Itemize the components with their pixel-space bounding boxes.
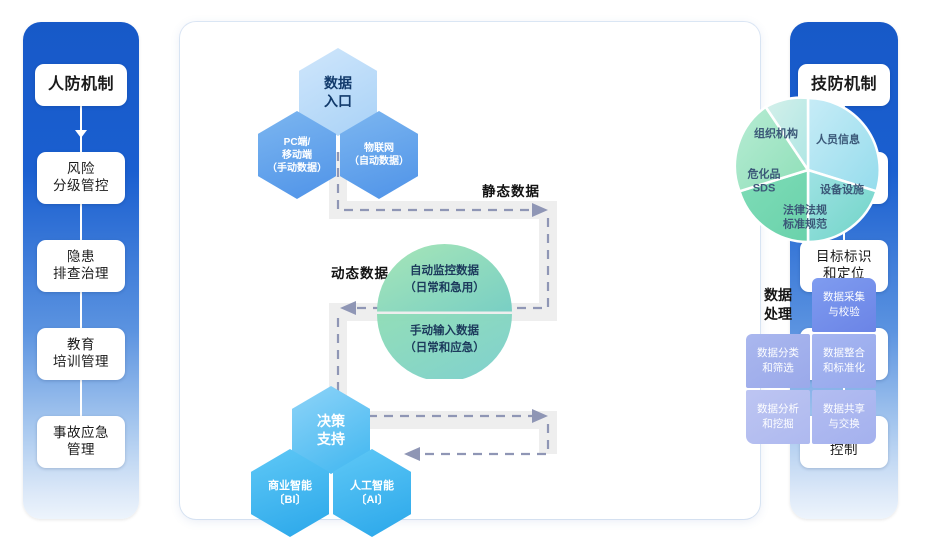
dynamic-data-auto-label: 自动监控数据（日常和急用） [404,263,485,296]
flow-arrow-left-2 [404,447,420,461]
center-card: 静态数据 动态数据 数据入口 PC端/移动端（手动数据） 物联网（自动数据） 决… [180,22,760,519]
hex-data-entry-label: 数据入口 [321,74,355,110]
dp-cell-analysis[interactable]: 数据分析和挖掘 [746,390,810,444]
flow-label-static: 静态数据 [482,180,540,200]
hex-decision-support-label: 决策支持 [314,412,348,448]
dynamic-data-circle: 自动监控数据（日常和急用） 手动输入数据（日常和应急） [377,244,512,379]
left-panel-title: 人防机制 [35,64,127,106]
hex-iot-label: 物联网（自动数据） [346,142,412,168]
data-processing-label: 数据处理 [746,278,810,332]
hex-pc-mobile-label: PC端/移动端（手动数据） [264,136,330,175]
left-panel-item-3[interactable]: 教育培训管理 [37,328,125,380]
dp-cell-integration[interactable]: 数据整合和标准化 [812,334,876,388]
pie-slice-label-5: 组织机构 [754,127,798,141]
dp-cell-sharing[interactable]: 数据共享与交换 [812,390,876,444]
dp-cell-classification[interactable]: 数据分类和筛选 [746,334,810,388]
data-processing-grid: 数据处理 数据采集与校验 数据分类和筛选 数据整合和标准化 数据分析和挖掘 数据… [746,278,876,444]
dp-cell-collection[interactable]: 数据采集与校验 [812,278,876,332]
left-panel-item-4[interactable]: 事故应急管理 [37,416,125,468]
diagram-canvas: 人防机制 风险分级管控 隐患排查治理 教育培训管理 事故应急管理 技防机制 视频… [0,0,927,548]
left-panel-item-2[interactable]: 隐患排查治理 [37,240,125,292]
dynamic-data-manual-label: 手动输入数据（日常和应急） [404,323,485,356]
pie-slice-label-1: 人员信息 [816,133,860,147]
pie-slice-label-2: 设备设施 [820,183,864,197]
hex-artificial-intelligence-label: 人工智能〔AI〕 [347,479,397,508]
left-panel-arrow-icon [75,130,87,138]
pie-slice-label-3: 法律法规标准规范 [783,204,827,233]
pie-slice-label-4: 危化品SDS [748,168,781,197]
static-data-pie-chart: 人员信息 设备设施 法律法规标准规范 危化品SDS 组织机构 [732,94,884,246]
hex-business-intelligence-label: 商业智能〔BI〕 [265,479,315,508]
left-panel-human-defense: 人防机制 风险分级管控 隐患排查治理 教育培训管理 事故应急管理 [23,22,139,519]
left-panel-item-1[interactable]: 风险分级管控 [37,152,125,204]
